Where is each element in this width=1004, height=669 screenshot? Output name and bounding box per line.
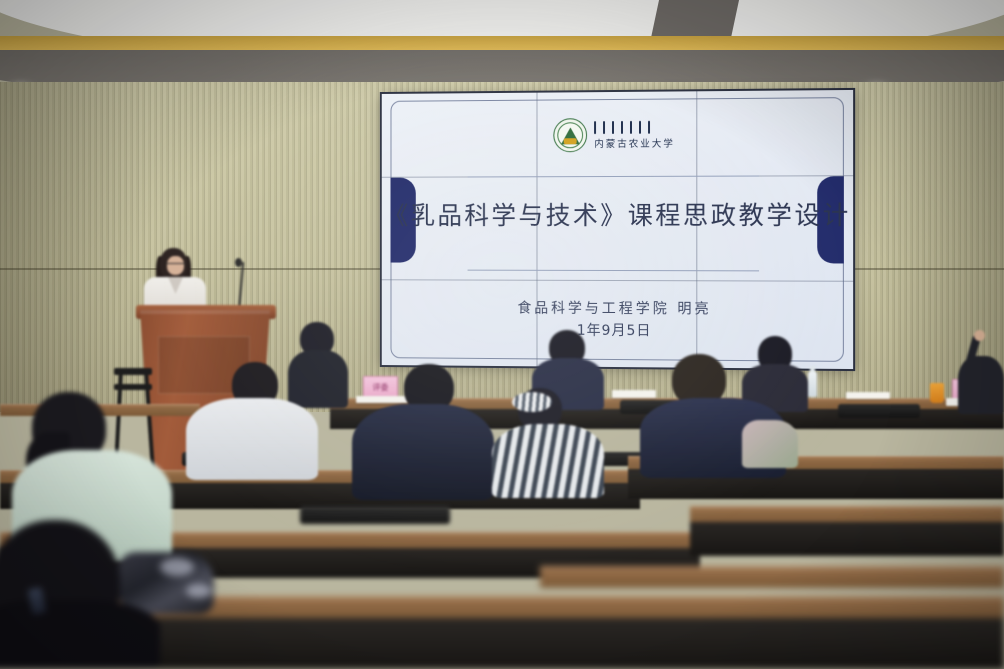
slide-department-presenter: 食品科学与工程学院 明亮 <box>382 297 853 319</box>
glasses-icon <box>166 263 185 267</box>
bag-highlight <box>186 584 212 598</box>
attendee-shoulder-scarf <box>742 420 798 468</box>
university-chinese-name: 内蒙古农业大学 <box>594 135 675 149</box>
chair-back <box>300 506 450 524</box>
microphone-icon <box>235 258 242 267</box>
projection-screen[interactable]: 内蒙古农业大学 《乳品科学与技术》课程思政教学设计 食品科学与工程学院 明亮 1… <box>382 90 853 369</box>
hair-scrunchie <box>512 392 552 412</box>
paper-sheet-icon <box>356 396 408 403</box>
paper-sheet-icon <box>612 390 656 398</box>
chair-back <box>838 404 920 418</box>
bag-highlight <box>160 558 194 576</box>
wall-shading-left <box>0 82 150 412</box>
desk-surface <box>540 566 1004 588</box>
mongolian-script-icon <box>594 120 675 134</box>
hand-icon <box>974 330 985 341</box>
beverage-cup-icon <box>930 383 944 403</box>
desk-front-panel <box>690 522 1004 556</box>
slide-title: 《乳品科学与技术》课程思政教学设计 <box>382 196 853 233</box>
paper-sheet-icon <box>846 392 890 399</box>
water-bottle-icon <box>808 371 817 397</box>
university-seal-icon <box>554 118 588 152</box>
lecture-hall-photo: 内蒙古农业大学 《乳品科学与技术》课程思政教学设计 食品科学与工程学院 明亮 1… <box>0 0 1004 669</box>
university-logo: 内蒙古农业大学 <box>382 116 853 153</box>
